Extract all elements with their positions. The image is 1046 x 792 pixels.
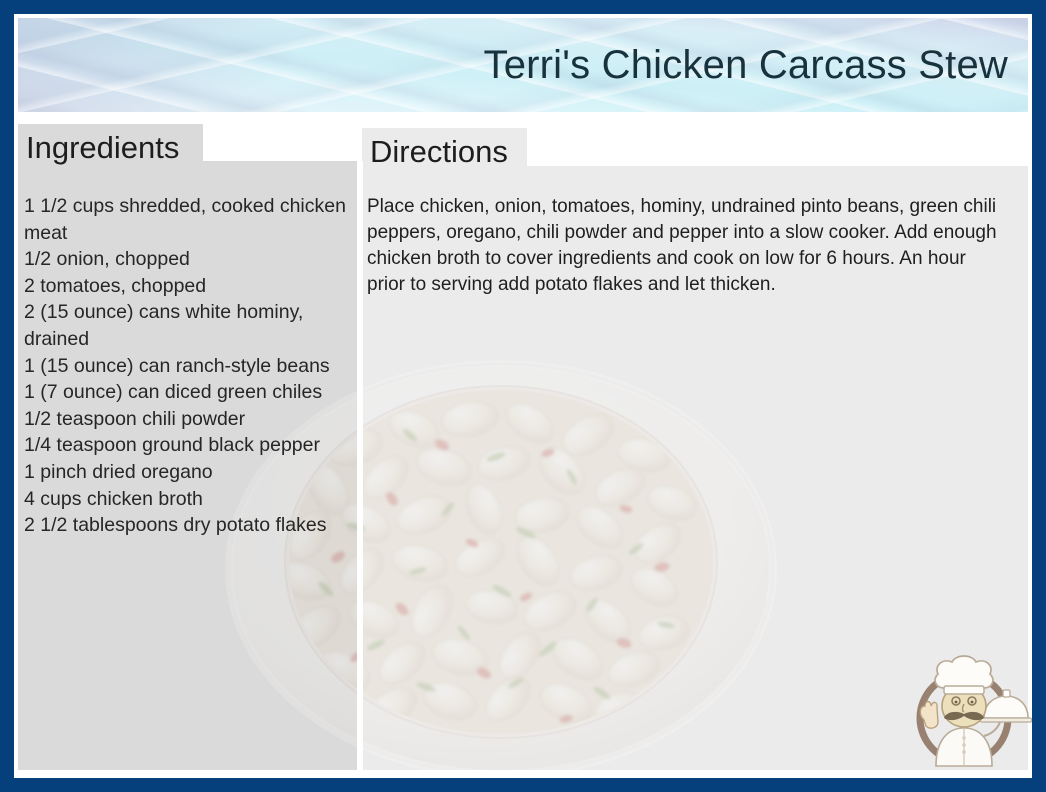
list-item: 1 pinch dried oregano bbox=[24, 459, 354, 486]
chef-logo bbox=[900, 644, 1032, 776]
list-item: 1 (15 ounce) can ranch-style beans bbox=[24, 353, 354, 380]
list-item: 1/2 teaspoon chili powder bbox=[24, 406, 354, 433]
list-item: 2 tomatoes, chopped bbox=[24, 273, 354, 300]
list-item: 1 (7 ounce) can diced green chiles bbox=[24, 379, 354, 406]
list-item: 4 cups chicken broth bbox=[24, 486, 354, 513]
gutter-bottom bbox=[0, 770, 1046, 792]
list-item: 1 1/2 cups shredded, cooked chicken meat bbox=[24, 193, 354, 246]
list-item: 1/2 onion, chopped bbox=[24, 246, 354, 273]
directions-body: Place chicken, onion, tomatoes, hominy, … bbox=[367, 194, 1004, 298]
ingredients-heading: Ingredients bbox=[26, 130, 179, 166]
list-item: 2 (15 ounce) cans white hominy, drained bbox=[24, 299, 354, 352]
page-title: Terri's Chicken Carcass Stew bbox=[484, 43, 1009, 87]
list-item: 1/4 teaspoon ground black pepper bbox=[24, 432, 354, 459]
directions-heading: Directions bbox=[370, 134, 508, 170]
recipe-card-slide: Terri's Chicken Carcass Stew bbox=[0, 0, 1046, 792]
gutter-left bbox=[0, 161, 18, 792]
ingredients-list: 1 1/2 cups shredded, cooked chicken meat… bbox=[24, 193, 354, 539]
header-band: Terri's Chicken Carcass Stew bbox=[18, 18, 1028, 112]
column-divider bbox=[357, 161, 363, 770]
list-item: 2 1/2 tablespoons dry potato flakes bbox=[24, 512, 354, 539]
